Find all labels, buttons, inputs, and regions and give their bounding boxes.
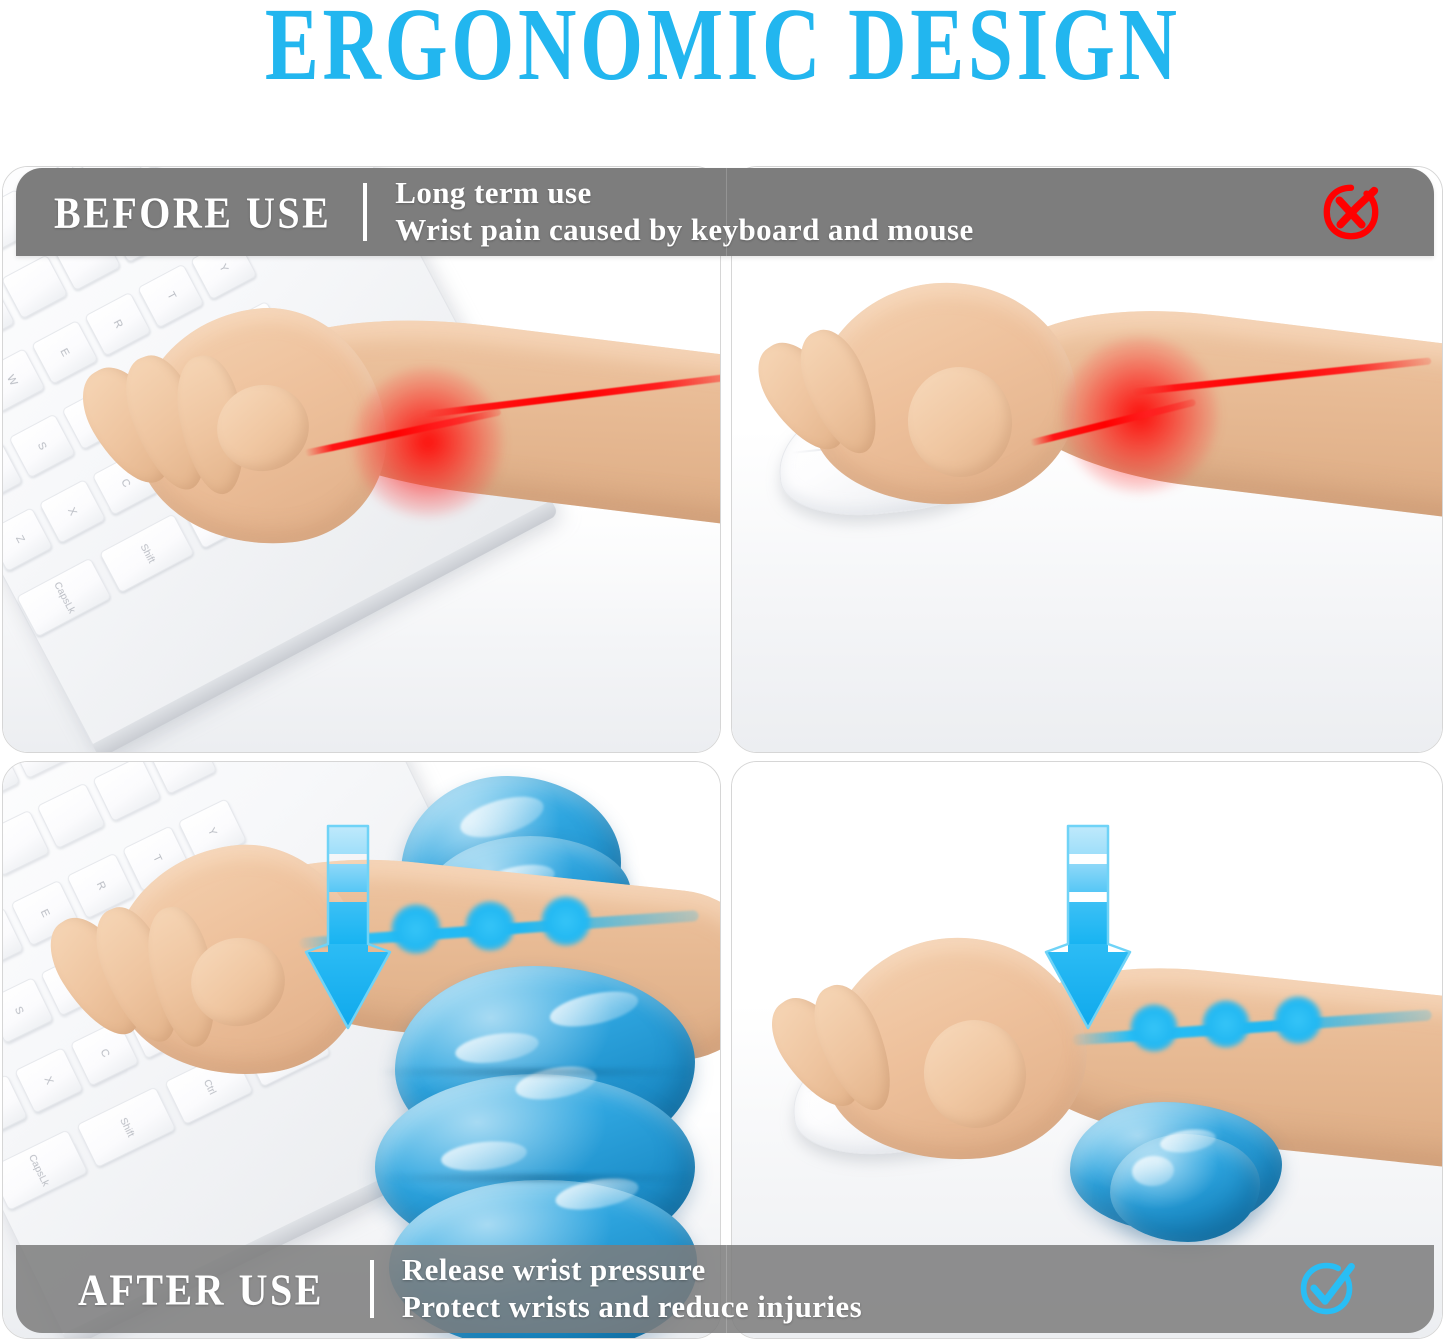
banner-seam-bottom <box>726 1245 727 1333</box>
circle-check-icon <box>1296 1258 1358 1320</box>
page-title: ERGONOMIC DESIGN <box>265 0 1181 98</box>
after-use-line-1: Release wrist pressure <box>402 1252 862 1289</box>
banner-divider <box>370 1260 374 1318</box>
before-use-line-1: Long term use <box>395 175 973 212</box>
relief-node <box>391 904 441 954</box>
before-use-description: Long term use Wrist pain caused by keybo… <box>395 175 973 248</box>
relief-node <box>1274 996 1322 1044</box>
down-arrow-right <box>1042 822 1134 1034</box>
pain-glow <box>353 367 503 517</box>
before-use-line-2: Wrist pain caused by keyboard and mouse <box>395 212 973 249</box>
gel-seam <box>385 1174 695 1182</box>
after-use-line-2: Protect wrists and reduce injuries <box>402 1289 862 1326</box>
relief-node <box>541 896 591 946</box>
circle-x-icon <box>1320 181 1382 243</box>
relief-node <box>465 901 515 951</box>
down-arrow-left <box>302 822 394 1034</box>
comparison-board: Q W E R T Y A S D F G H Z X C V B N Caps… <box>0 150 1445 1343</box>
banner-seam-top <box>726 168 727 256</box>
after-use-label: AFTER USE <box>78 1263 324 1316</box>
before-use-banner: BEFORE USE Long term use Wrist pain caus… <box>16 168 1434 256</box>
gel-seam <box>379 1068 691 1076</box>
relief-node <box>1202 1000 1250 1048</box>
banner-divider <box>363 183 367 241</box>
before-use-label: BEFORE USE <box>54 186 331 239</box>
relief-node <box>1130 1004 1178 1052</box>
title-banner: ERGONOMIC DESIGN <box>0 0 1445 150</box>
after-use-banner: AFTER USE Release wrist pressure Protect… <box>16 1245 1434 1333</box>
after-use-description: Release wrist pressure Protect wrists an… <box>402 1252 862 1325</box>
